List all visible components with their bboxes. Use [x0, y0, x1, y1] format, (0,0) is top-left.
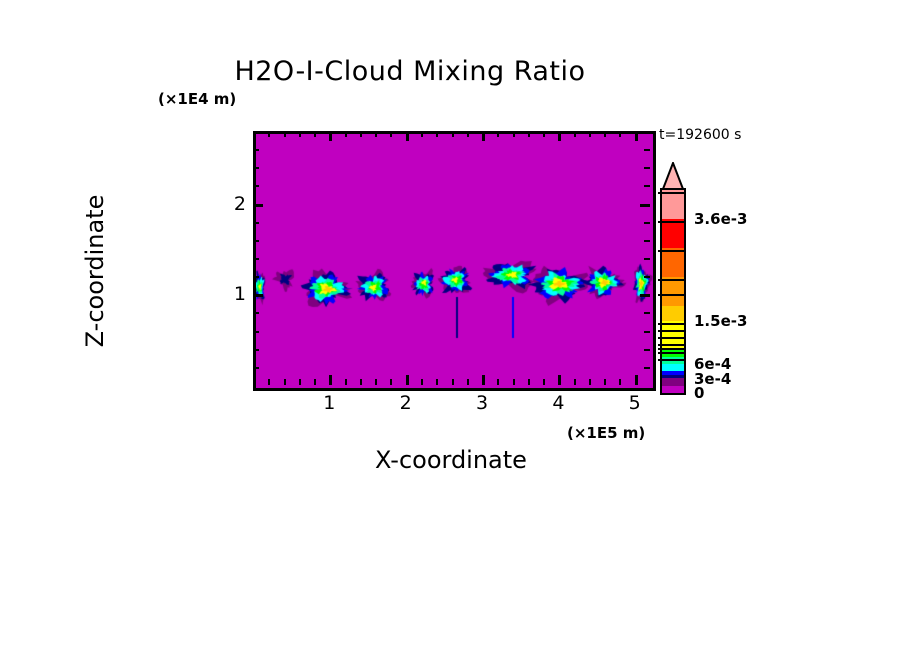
y-minor-tick — [253, 367, 259, 369]
y-minor-tick — [253, 185, 259, 187]
y-minor-tick-right — [644, 349, 650, 351]
colorbar-tick-label: 1.5e-3 — [694, 312, 747, 330]
x-minor-tick-top — [574, 131, 576, 137]
colorbar-band — [662, 219, 684, 248]
y-minor-tick — [253, 312, 259, 314]
x-minor-tick-top — [467, 131, 469, 137]
x-minor-tick-top — [513, 131, 515, 137]
colorbar-bands — [660, 188, 686, 395]
colorbar-band-separator — [658, 330, 684, 332]
x-minor-tick-top — [452, 131, 454, 137]
colorbar-tick-label: 3.6e-3 — [694, 210, 747, 228]
colorbar-tick-label: 0 — [694, 384, 704, 402]
colorbar-band-separator — [658, 294, 684, 296]
y-minor-tick-right — [644, 167, 650, 169]
colorbar-band — [662, 306, 684, 321]
x-minor-tick-top — [589, 131, 591, 137]
x-minor-tick-top — [436, 131, 438, 137]
x-minor-tick — [604, 379, 606, 385]
x-minor-tick — [543, 379, 545, 385]
y-major-tick-right — [640, 204, 650, 207]
colorbar-band — [662, 364, 684, 371]
x-minor-tick — [574, 379, 576, 385]
y-tick-label: 2 — [216, 193, 246, 215]
x-minor-tick-top — [314, 131, 316, 137]
figure-root: H2O-I-Cloud Mixing Ratio (×1E4 m) t=1926… — [0, 0, 904, 654]
x-minor-tick — [436, 379, 438, 385]
x-minor-tick — [421, 379, 423, 385]
x-minor-tick — [589, 379, 591, 385]
x-major-tick — [635, 375, 638, 385]
colorbar-band — [662, 277, 684, 306]
x-tick-label: 3 — [476, 392, 488, 414]
y-minor-tick-right — [644, 276, 650, 278]
x-minor-tick — [284, 379, 286, 385]
x-minor-tick-top — [619, 131, 621, 137]
plot-area — [253, 131, 656, 391]
x-minor-tick-top — [604, 131, 606, 137]
y-minor-tick — [253, 258, 259, 260]
colorbar-band-separator — [658, 352, 684, 354]
colorbar-band — [662, 378, 684, 385]
x-minor-tick-top — [543, 131, 545, 137]
colorbar-band-separator — [658, 221, 684, 223]
x-minor-tick — [390, 379, 392, 385]
y-major-tick — [253, 204, 263, 207]
colorbar-band — [662, 386, 684, 393]
colorbar-band-separator — [658, 279, 684, 281]
y-minor-tick — [253, 331, 259, 333]
y-minor-tick-right — [644, 222, 650, 224]
x-major-tick — [482, 375, 485, 385]
y-axis-title: Z-coordinate — [81, 71, 109, 471]
y-minor-tick — [253, 276, 259, 278]
x-minor-tick — [268, 379, 270, 385]
x-major-tick-top — [406, 131, 409, 141]
colorbar — [660, 162, 686, 395]
y-major-tick-right — [640, 294, 650, 297]
x-minor-tick-top — [345, 131, 347, 137]
colorbar-arrow-icon — [660, 162, 686, 190]
x-axis-unit-label: (×1E5 m) — [567, 424, 645, 442]
x-minor-tick — [528, 379, 530, 385]
x-minor-tick — [299, 379, 301, 385]
y-minor-tick — [253, 222, 259, 224]
x-minor-tick — [360, 379, 362, 385]
y-minor-tick-right — [644, 240, 650, 242]
y-axis-unit-label: (×1E4 m) — [158, 90, 236, 108]
y-minor-tick-right — [644, 367, 650, 369]
contour-plot-canvas — [256, 134, 653, 388]
x-minor-tick-top — [497, 131, 499, 137]
x-major-tick — [329, 375, 332, 385]
x-minor-tick-top — [360, 131, 362, 137]
x-tick-label: 4 — [552, 392, 564, 414]
x-minor-tick — [345, 379, 347, 385]
y-minor-tick-right — [644, 149, 650, 151]
y-minor-tick-right — [644, 331, 650, 333]
y-minor-tick — [253, 167, 259, 169]
y-minor-tick — [253, 240, 259, 242]
x-minor-tick — [497, 379, 499, 385]
x-minor-tick-top — [375, 131, 377, 137]
colorbar-band-separator — [658, 344, 684, 346]
colorbar-band-separator — [658, 250, 684, 252]
x-tick-label: 1 — [323, 392, 335, 414]
x-minor-tick — [467, 379, 469, 385]
x-minor-tick — [452, 379, 454, 385]
y-minor-tick-right — [644, 258, 650, 260]
colorbar-band-separator — [658, 337, 684, 339]
y-minor-tick-right — [644, 185, 650, 187]
y-tick-label: 1 — [216, 283, 246, 305]
colorbar-band-separator — [658, 192, 684, 194]
y-minor-tick — [253, 149, 259, 151]
x-axis-title: X-coordinate — [0, 446, 903, 474]
x-major-tick-top — [482, 131, 485, 141]
y-minor-tick — [253, 349, 259, 351]
x-major-tick — [406, 375, 409, 385]
x-minor-tick-top — [284, 131, 286, 137]
timestamp-annotation: t=192600 s — [659, 127, 741, 143]
colorbar-band-separator — [658, 323, 684, 325]
x-minor-tick — [619, 379, 621, 385]
x-minor-tick-top — [299, 131, 301, 137]
x-major-tick-top — [558, 131, 561, 141]
colorbar-band-separator — [658, 348, 684, 350]
colorbar-band — [662, 248, 684, 277]
y-major-tick — [253, 294, 263, 297]
x-tick-label: 5 — [629, 392, 641, 414]
x-major-tick-top — [329, 131, 332, 141]
x-major-tick — [558, 375, 561, 385]
x-minor-tick-top — [390, 131, 392, 137]
x-minor-tick-top — [528, 131, 530, 137]
x-minor-tick — [513, 379, 515, 385]
x-minor-tick-top — [268, 131, 270, 137]
colorbar-band-separator — [658, 359, 684, 361]
x-major-tick-top — [635, 131, 638, 141]
x-minor-tick — [375, 379, 377, 385]
x-minor-tick-top — [421, 131, 423, 137]
x-minor-tick — [314, 379, 316, 385]
x-tick-label: 2 — [400, 392, 412, 414]
page-title: H2O-I-Cloud Mixing Ratio — [0, 56, 862, 87]
y-minor-tick-right — [644, 312, 650, 314]
colorbar-band — [662, 190, 684, 219]
